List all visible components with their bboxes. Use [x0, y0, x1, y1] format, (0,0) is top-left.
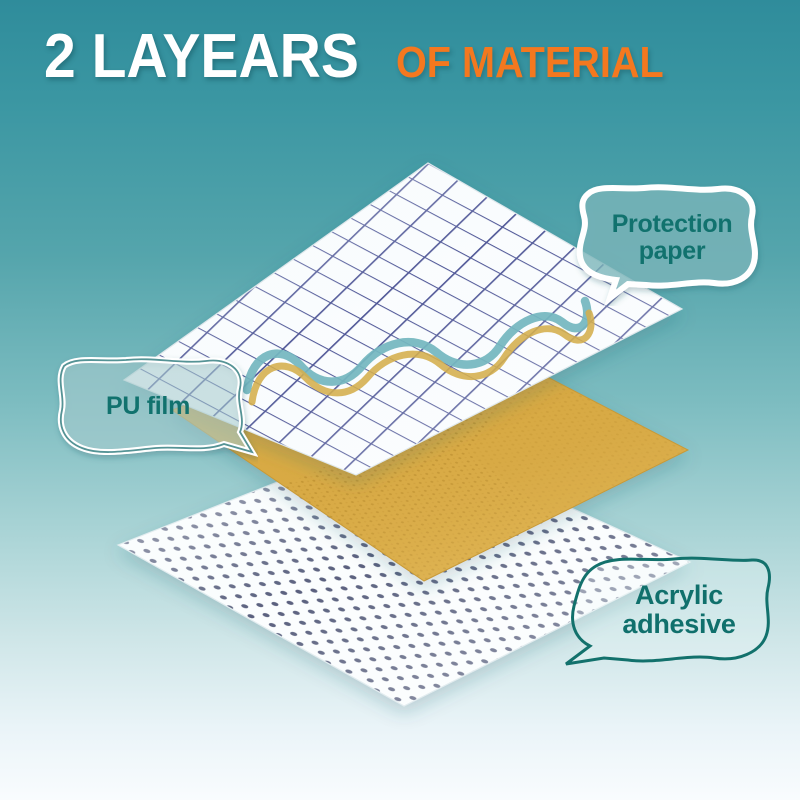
- callout-acrylic-adhesive[interactable]: Acrylic adhesive: [556, 552, 774, 676]
- callout-bubble-protection: [566, 182, 766, 306]
- callout-bubble-acrylic: [556, 552, 774, 676]
- callout-bubble-pu-film: [46, 352, 258, 464]
- callout-protection-paper[interactable]: Protection paper: [566, 182, 766, 306]
- callout-pu-film[interactable]: PU film: [46, 352, 258, 464]
- infographic-canvas: 2 LAYEARS OF MATERIAL: [0, 0, 800, 800]
